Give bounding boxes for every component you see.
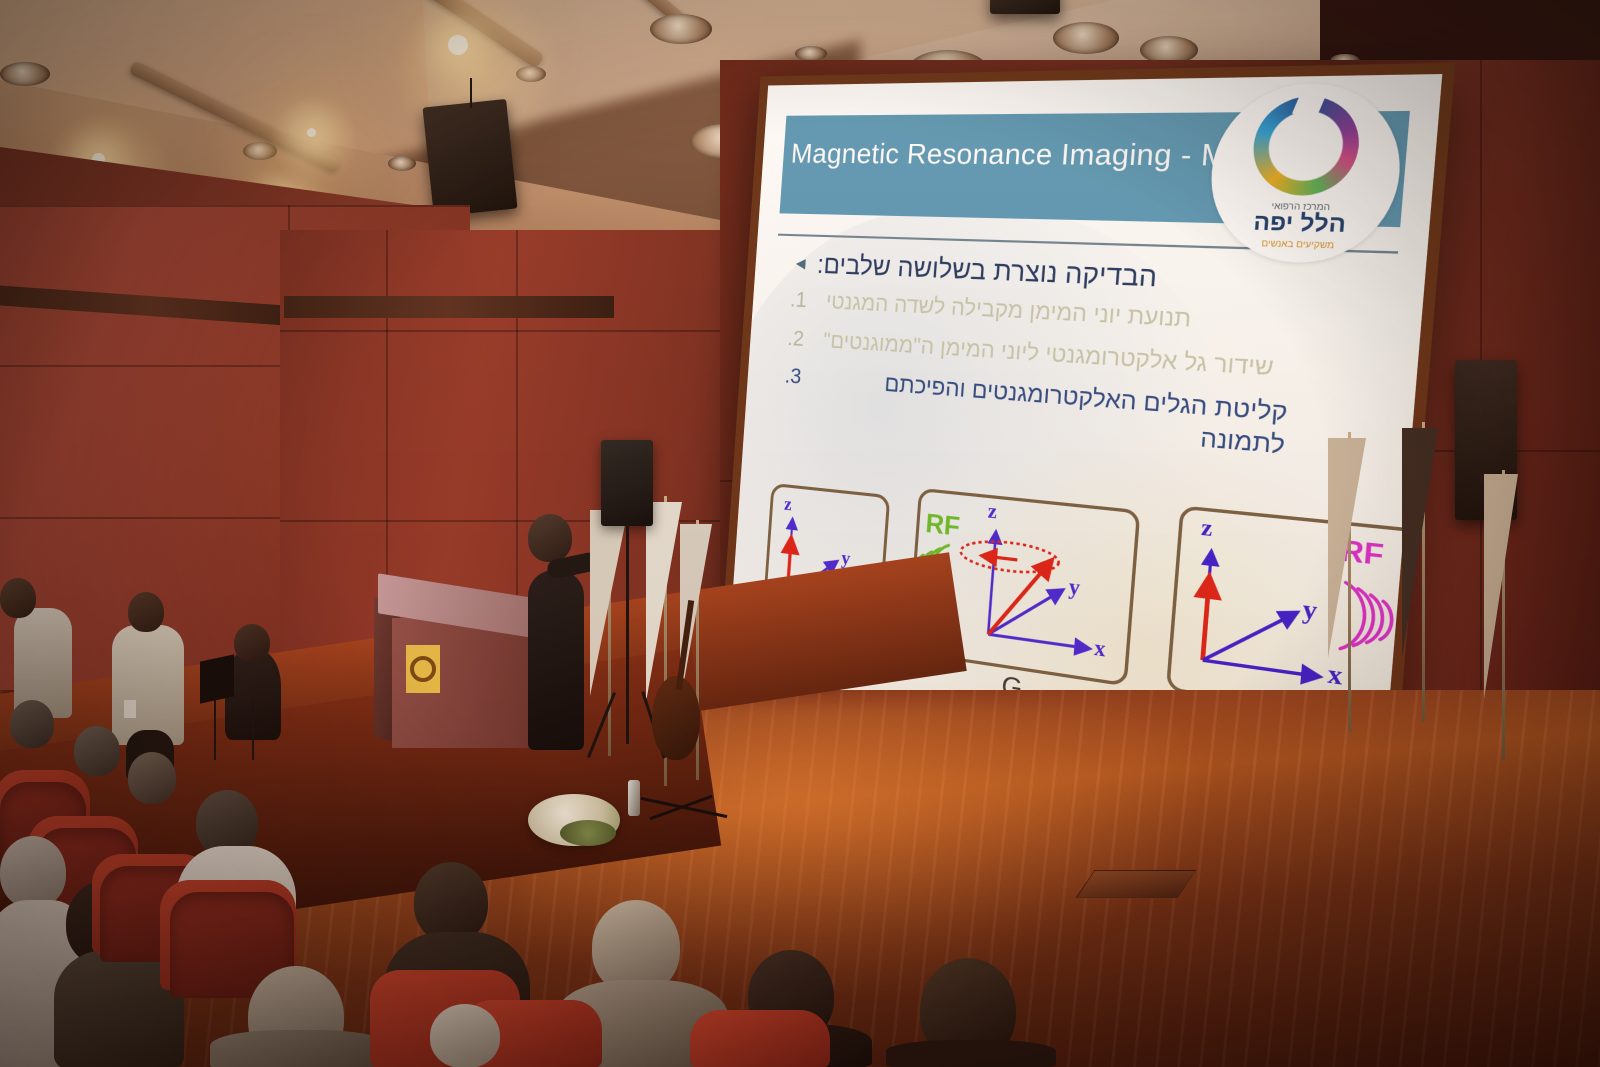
speaker-stand-pole: [626, 524, 629, 744]
step-number: 1.: [789, 286, 815, 315]
flag-cloth: [1328, 438, 1366, 658]
audience-head: [10, 700, 54, 748]
presenter-body: [528, 570, 584, 750]
rf-label-g: RF: [925, 509, 961, 544]
downlight-6: [0, 62, 50, 86]
downlight-4: [1053, 22, 1119, 54]
slide-title: Magnetic Resonance Imaging - MRI: [790, 138, 1263, 174]
wall-upper-recess: [284, 296, 614, 318]
axis-label-z: z: [783, 493, 792, 515]
downlight-10: [795, 46, 827, 61]
water-bottle: [628, 780, 640, 816]
axis-label-x: x: [1093, 636, 1106, 663]
flag-cloth: [1402, 428, 1438, 658]
axis-label-z: z: [987, 500, 998, 525]
logo-ring-icon: [1250, 96, 1363, 197]
logo-tagline: משקיעים באנשים: [1261, 238, 1334, 251]
axis-label-x: x: [1327, 659, 1344, 692]
standing-person-body: [112, 625, 184, 745]
flag-cloth: [680, 524, 712, 704]
downlight-1: [650, 14, 712, 44]
floor-access-panel: [1076, 870, 1197, 898]
podium-emblem-plate: [406, 645, 440, 693]
step-number: 2.: [787, 324, 813, 353]
audience-body: [886, 1040, 1056, 1067]
ceiling-speaker: [422, 99, 517, 217]
spot-lamp-main: [448, 35, 468, 55]
bullet-triangle-icon: ◄: [792, 254, 809, 272]
audience-head: [430, 1004, 500, 1067]
stage-speaker-cabinet: [601, 440, 653, 526]
stool-leg: [214, 700, 216, 760]
seat-rim: [690, 1010, 830, 1067]
step-number: 3.: [782, 362, 810, 422]
wall-seam: [280, 330, 750, 332]
hospital-logo: המרכז הרפואי הלל יפה משקיעים באנשים: [1205, 82, 1407, 266]
downlight-8: [388, 156, 416, 171]
axis-label-y: y: [1301, 594, 1318, 626]
presenter-head: [528, 514, 572, 562]
standing-person-head: [128, 592, 164, 632]
flower-leaves: [560, 820, 616, 846]
flag-cloth: [646, 502, 682, 702]
flag-cloth: [590, 510, 628, 696]
wall-seam: [0, 205, 470, 207]
flag-cloth: [1484, 474, 1518, 699]
audience-head: [0, 836, 66, 908]
projector-box: [990, 0, 1060, 14]
spot-lamp-4: [307, 128, 316, 137]
stool-leg: [252, 700, 254, 760]
audience-body: [210, 1030, 390, 1067]
music-stand: [200, 654, 234, 703]
axis-label-z: z: [1200, 513, 1213, 543]
badge-lanyard: [124, 700, 136, 718]
step-text: תנועת יוני המימן מקבילה לשדה המגנטי: [825, 288, 1192, 335]
logo-name: הלל יפה: [1253, 211, 1347, 237]
audience-head: [74, 726, 120, 776]
spot-glow-4: [270, 96, 360, 186]
standing-person-2-head: [0, 578, 36, 618]
audience-head: [414, 862, 488, 942]
audience-head: [128, 752, 176, 804]
podium-ring-logo-icon: [410, 656, 436, 682]
photo-scene: Magnetic Resonance Imaging - MRI המרכז ה…: [0, 0, 1600, 1067]
axis-label-y: y: [1068, 575, 1081, 602]
seated-person-head: [234, 624, 270, 662]
speaker-hanger: [470, 78, 472, 108]
